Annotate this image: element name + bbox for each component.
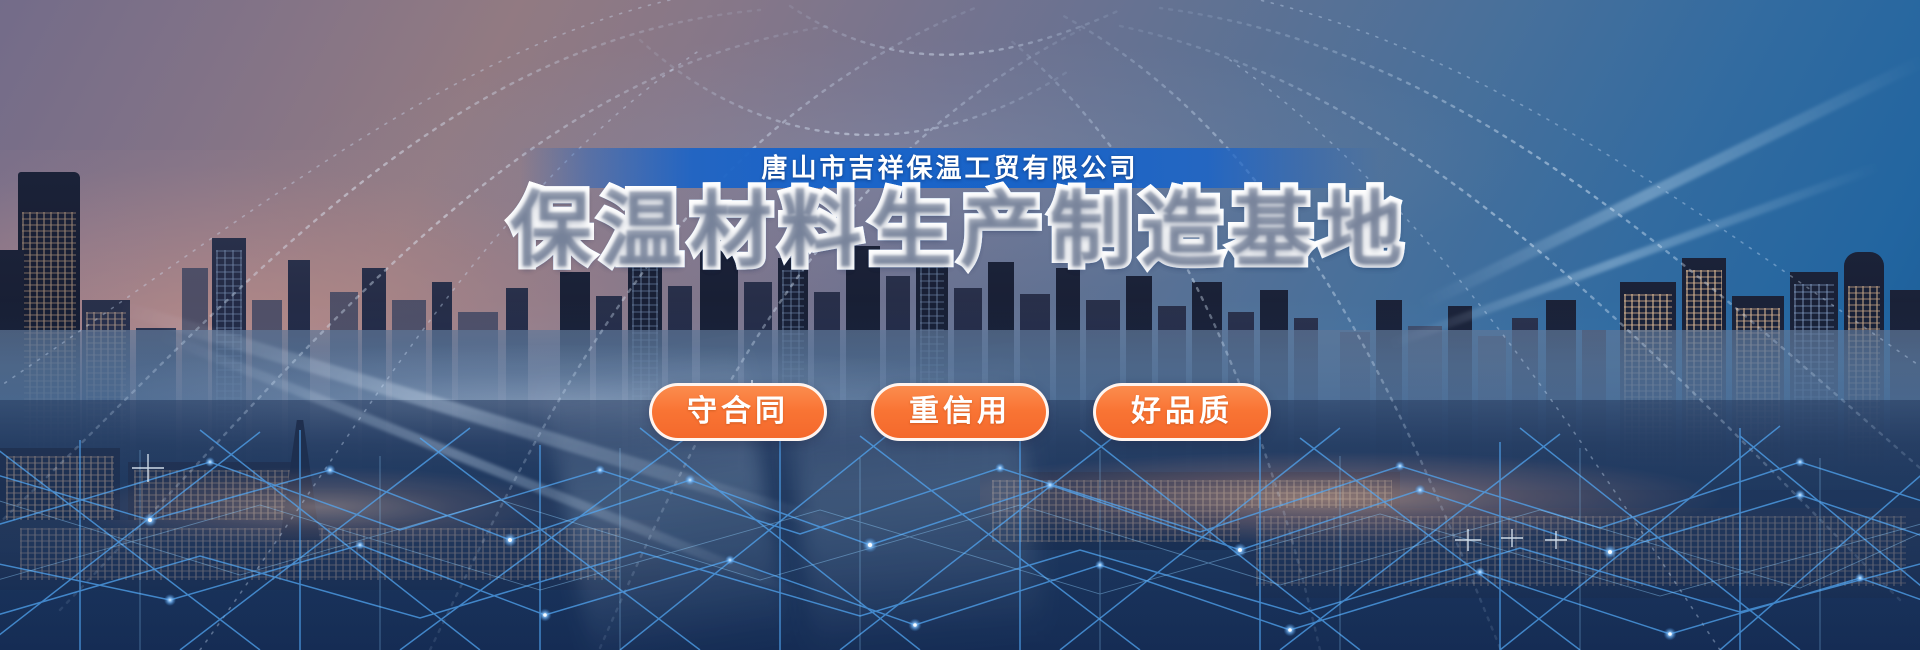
banner-content: 唐山市吉祥保温工贸有限公司 保温材料生产制造基地 保温材料生产制造基地 守合同 …	[0, 0, 1920, 650]
headline-text: 保温材料生产制造基地	[510, 189, 1410, 271]
hero-banner: 唐山市吉祥保温工贸有限公司 保温材料生产制造基地 保温材料生产制造基地 守合同 …	[0, 0, 1920, 650]
pill-label: 重信用	[909, 397, 1011, 427]
feature-pills: 守合同 重信用 好品质	[0, 383, 1920, 441]
pill-button-zhongxinyong[interactable]: 重信用	[871, 383, 1049, 441]
headline-outline: 保温材料生产制造基地 保温材料生产制造基地	[510, 189, 1410, 271]
headline-container: 保温材料生产制造基地 保温材料生产制造基地	[0, 180, 1920, 280]
pill-button-haopinzhi[interactable]: 好品质	[1093, 383, 1271, 441]
company-name: 唐山市吉祥保温工贸有限公司	[761, 155, 1138, 181]
pill-button-shouhetong[interactable]: 守合同	[649, 383, 827, 441]
pill-label: 守合同	[687, 397, 789, 427]
pill-label: 好品质	[1131, 397, 1233, 427]
